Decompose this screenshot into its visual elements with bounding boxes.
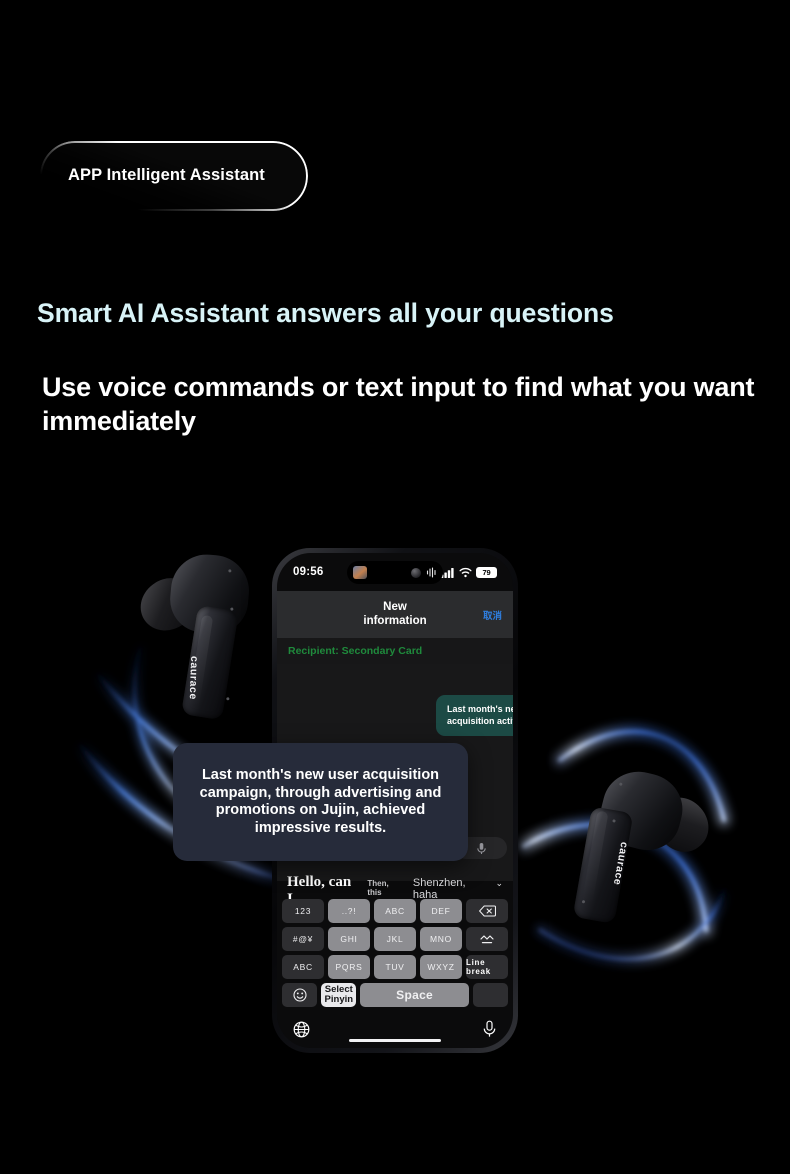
recipient-label: Recipient: Secondary Card [288, 645, 422, 657]
shift-icon[interactable] [466, 927, 508, 951]
key-jkl[interactable]: JKL [374, 927, 416, 951]
page-title: New information [358, 601, 432, 628]
backspace-glyph [479, 905, 496, 917]
key-123[interactable]: 123 [282, 899, 324, 923]
chevron-down-icon[interactable]: ⌄ [495, 878, 503, 889]
keyboard-bottom-bar [277, 1010, 513, 1048]
wifi-icon [459, 567, 472, 578]
key-tuv[interactable]: TUV [374, 955, 416, 979]
backspace-icon[interactable] [466, 899, 508, 923]
cellular-signal-icon [441, 567, 455, 578]
key-select-pinyin[interactable]: Select Pinyin [321, 983, 356, 1007]
keyboard-row-4: Select Pinyin Space [282, 983, 508, 1007]
status-bar: 09:56 [277, 553, 513, 591]
app-thumbnail-icon [353, 566, 367, 579]
keyboard-row-2: #@¥ GHI JKL MNO [282, 927, 508, 951]
ai-response-callout: Last month's new user acquisition campai… [173, 743, 468, 861]
left-earbud-bottom-hole [226, 697, 229, 700]
keyboard: 123 ..?! ABC DEF #@¥ GHI JKL [277, 896, 513, 1010]
microphone-icon [476, 842, 487, 855]
shift-glyph [479, 934, 495, 945]
emoji-glyph [293, 988, 307, 1002]
dynamic-island[interactable] [347, 561, 443, 584]
key-pqrs[interactable]: PQRS [328, 955, 370, 979]
key-line-break-spacer[interactable] [473, 983, 508, 1007]
suggestion-secondary[interactable]: Then, this [367, 879, 404, 897]
right-earbud: caurace [538, 747, 734, 952]
emoji-icon[interactable] [282, 983, 317, 1007]
keyboard-row-3: ABC PQRS TUV WXYZ Line break [282, 955, 508, 979]
status-time: 09:56 [293, 566, 323, 578]
message-text: Last month's new customer acquisition ac… [447, 704, 513, 726]
message-bubble-outgoing[interactable]: Last month's new customer acquisition ac… [436, 695, 513, 736]
camera-dot-icon [411, 568, 421, 578]
recipient-row[interactable]: Recipient: Secondary Card [277, 638, 513, 664]
status-icons: 79 [441, 567, 497, 578]
nav-bar: New information 取消 [277, 591, 513, 638]
audio-waveform-icon [426, 567, 437, 578]
key-def[interactable]: DEF [420, 899, 462, 923]
key-mno[interactable]: MNO [420, 927, 462, 951]
app-intelligent-assistant-badge: APP Intelligent Assistant [40, 141, 308, 211]
ai-response-text: Last month's new user acquisition campai… [186, 767, 455, 837]
key-symbols[interactable]: #@¥ [282, 927, 324, 951]
page-headline: Smart AI Assistant answers all your ques… [37, 298, 614, 329]
microphone-icon[interactable] [482, 1020, 497, 1038]
battery-icon: 79 [476, 567, 497, 578]
key-punctuation[interactable]: ..?! [328, 899, 370, 923]
key-line-break[interactable]: Line break [466, 955, 508, 979]
key-abc[interactable]: ABC [374, 899, 416, 923]
key-wxyz[interactable]: WXYZ [420, 955, 462, 979]
key-abc-mode[interactable]: ABC [282, 955, 324, 979]
key-space[interactable]: Space [360, 983, 468, 1007]
left-earbud-brand-label: caurace [187, 656, 201, 700]
badge-label: APP Intelligent Assistant [68, 166, 265, 185]
keyboard-row-1: 123 ..?! ABC DEF [282, 899, 508, 923]
page-subheadline: Use voice commands or text input to find… [42, 370, 762, 438]
key-ghi[interactable]: GHI [328, 927, 370, 951]
suggestion-bar[interactable]: Hello, can I Then, this Shenzhen, haha ⌄ [277, 874, 513, 896]
cancel-button[interactable]: 取消 [483, 608, 502, 622]
globe-icon[interactable] [293, 1021, 310, 1038]
home-indicator [349, 1039, 441, 1043]
left-earbud: caurace [128, 539, 281, 717]
